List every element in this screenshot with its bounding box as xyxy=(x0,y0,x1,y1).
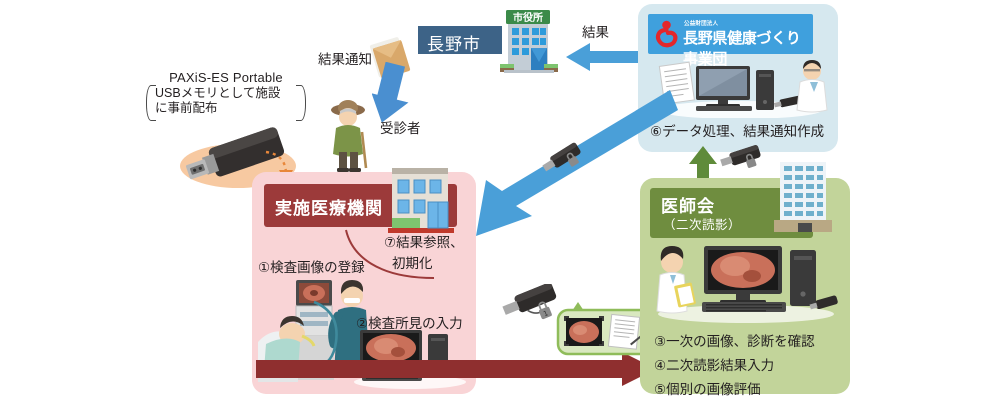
organization-logo-banner: 公益財団法人 長野県健康づくり事業団 xyxy=(648,14,813,54)
clinic-step-7-line-1: ⑦結果参照、 xyxy=(384,234,464,252)
workflow-diagram: PAXiS-ES Portable USBメモリとして施設 に事前配布 結果通知 xyxy=(0,0,1000,400)
doctors-header-sublabel: （二次読影） xyxy=(663,214,741,233)
result-notice-label: 結果通知 xyxy=(318,52,372,69)
radiologist-doctor-icon xyxy=(657,246,696,313)
doctors-item-3: ③一次の画像、診断を確認 xyxy=(654,330,815,350)
result-arrow-label: 結果 xyxy=(582,25,609,42)
paxis-product-title: PAXiS-ES Portable xyxy=(146,70,306,85)
organization-logo-small-text: 公益財団法人 xyxy=(684,19,718,27)
result-left-arrow xyxy=(564,42,644,72)
clinic-header-label: 実施医療機関 xyxy=(275,194,383,219)
svg-text:市役所: 市役所 xyxy=(513,11,543,24)
reading-workstation-icon xyxy=(650,242,840,324)
lab-technician-icon xyxy=(797,60,827,112)
elderly-patient-icon xyxy=(322,96,376,172)
city-banner: 長野市 xyxy=(418,26,502,54)
doctors-item-5: ⑤個別の画像評価 xyxy=(654,378,761,398)
clinic-building-icon xyxy=(382,166,458,234)
locked-usb-drive-icon xyxy=(716,144,768,180)
clinic-step-7-line-2: 初期化 xyxy=(392,252,433,272)
patient-label: 受診者 xyxy=(380,121,421,138)
locked-usb-drive-icon xyxy=(538,142,592,184)
organization-logo-mark-icon xyxy=(655,20,678,48)
paxis-note-line-1: USBメモリとして施設 xyxy=(155,86,297,101)
green-up-arrow xyxy=(688,146,718,178)
city-hall-building-icon: 市役所 xyxy=(492,6,564,78)
office-building-icon xyxy=(772,162,838,234)
desktop-computer-icon xyxy=(696,66,774,111)
blue-down-arrow xyxy=(372,62,418,128)
city-banner-label: 長野市 xyxy=(427,30,481,55)
paxis-label-group: PAXiS-ES Portable USBメモリとして施設 に事前配布 xyxy=(146,70,306,116)
doctors-item-4: ④二次読影結果入力 xyxy=(654,354,774,374)
